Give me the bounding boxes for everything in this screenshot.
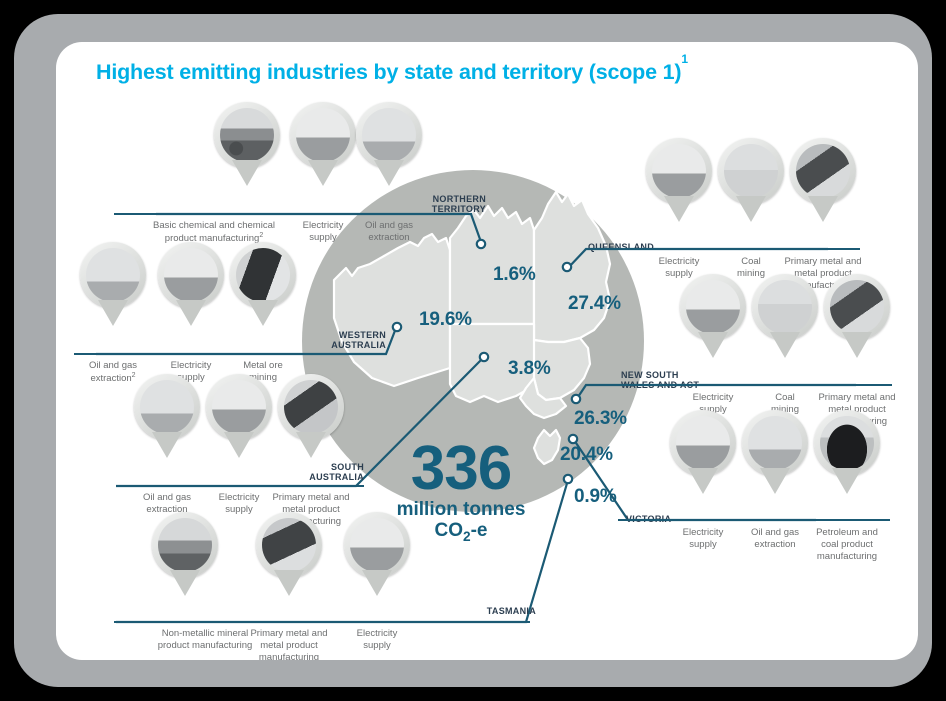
power-pylon-photo	[680, 274, 746, 340]
power-pylon-photo	[670, 410, 736, 476]
coal-pile-photo	[752, 274, 818, 340]
pin-western-australia-0[interactable]	[80, 242, 146, 308]
percent-queensland: 27.4%	[568, 293, 621, 315]
pin-new-south-wales-and-act-2[interactable]	[824, 274, 890, 340]
metal-works-photo	[824, 274, 890, 340]
rule-victoria	[618, 519, 890, 521]
pin-northern-territory-0[interactable]	[214, 102, 280, 168]
state-label-northern-territory: NORTHERNTERRITORY	[376, 194, 486, 215]
state-label-south-australia: SOUTHAUSTRALIA	[264, 462, 364, 483]
oil-pumpjack-photo	[80, 242, 146, 308]
pin-tasmania-2[interactable]	[344, 512, 410, 578]
pin-queensland-2[interactable]	[790, 138, 856, 204]
total-emissions-value: 336	[366, 440, 556, 497]
metal-ore-photo	[230, 242, 296, 308]
power-pylon-photo	[344, 512, 410, 578]
pin-victoria-0[interactable]	[670, 410, 736, 476]
pin-tail	[688, 468, 718, 494]
pin-tail	[808, 196, 838, 222]
pin-tail	[760, 468, 790, 494]
pin-tail	[274, 570, 304, 596]
pin-northern-territory-1[interactable]	[290, 102, 356, 168]
state-label-western-australia: WESTERNAUSTRALIA	[286, 330, 386, 351]
pin-tasmania-0[interactable]	[152, 512, 218, 578]
caption-tasmania-2: Electricitysupply	[312, 628, 442, 652]
pin-western-australia-2[interactable]	[230, 242, 296, 308]
rule-new-south-wales-and-act	[616, 384, 892, 386]
state-label-new-south-wales-and-act: NEW SOUTHWALES AND ACT	[621, 370, 699, 391]
pin-tail	[176, 300, 206, 326]
pin-queensland-0[interactable]	[646, 138, 712, 204]
oil-pumpjack-photo	[356, 102, 422, 168]
pin-tail	[698, 332, 728, 358]
percent-victoria: 20.4%	[560, 444, 613, 466]
oil-pumpjack-photo	[742, 410, 808, 476]
infographic-card: Highest emitting industries by state and…	[56, 42, 918, 660]
rule-south-australia	[116, 485, 364, 487]
pin-tail	[308, 160, 338, 186]
percent-western-australia: 19.6%	[419, 309, 472, 331]
pin-tail	[98, 300, 128, 326]
pin-queensland-1[interactable]	[718, 138, 784, 204]
pin-tail	[296, 432, 326, 458]
rule-northern-territory	[114, 213, 472, 215]
chemical-plant-photo	[214, 102, 280, 168]
state-label-tasmania: TASMANIA	[436, 606, 536, 616]
metal-works-photo	[278, 374, 344, 440]
coal-pile-photo	[814, 410, 880, 476]
pin-tasmania-1[interactable]	[256, 512, 322, 578]
caption-northern-territory-2: Oil and gasextraction	[324, 220, 454, 244]
pin-tail	[152, 432, 182, 458]
chemical-plant-photo	[152, 512, 218, 578]
pin-tail	[770, 332, 800, 358]
metal-works-photo	[790, 138, 856, 204]
rule-tasmania	[114, 621, 530, 623]
pin-tail	[224, 432, 254, 458]
power-pylon-photo	[158, 242, 224, 308]
rule-queensland	[586, 248, 860, 250]
pin-south-australia-2[interactable]	[278, 374, 344, 440]
power-pylon-photo	[646, 138, 712, 204]
pin-south-australia-1[interactable]	[206, 374, 272, 440]
pin-victoria-2[interactable]	[814, 410, 880, 476]
pin-tail	[842, 332, 872, 358]
metal-works-photo	[256, 512, 322, 578]
pin-tail	[664, 196, 694, 222]
map-region-queensland	[534, 192, 610, 342]
pin-tail	[170, 570, 200, 596]
percent-new-south-wales-and-act: 26.3%	[574, 408, 627, 430]
pin-northern-territory-2[interactable]	[356, 102, 422, 168]
pin-new-south-wales-and-act-1[interactable]	[752, 274, 818, 340]
outer-frame: Highest emitting industries by state and…	[14, 14, 932, 687]
pin-new-south-wales-and-act-0[interactable]	[680, 274, 746, 340]
pin-tail	[362, 570, 392, 596]
pin-western-australia-1[interactable]	[158, 242, 224, 308]
pin-tail	[832, 468, 862, 494]
coal-pile-photo	[718, 138, 784, 204]
oil-pumpjack-photo	[134, 374, 200, 440]
rule-western-australia	[74, 353, 386, 355]
percent-south-australia: 3.8%	[508, 358, 551, 380]
power-pylon-photo	[206, 374, 272, 440]
percent-tasmania: 0.9%	[574, 486, 617, 508]
pin-tail	[374, 160, 404, 186]
pin-tail	[736, 196, 766, 222]
caption-victoria-2: Petroleum andcoal productmanufacturing	[782, 527, 912, 563]
pin-tail	[232, 160, 262, 186]
pin-tail	[248, 300, 278, 326]
percent-northern-territory: 1.6%	[493, 264, 536, 286]
pin-south-australia-0[interactable]	[134, 374, 200, 440]
power-pylon-photo	[290, 102, 356, 168]
pin-victoria-1[interactable]	[742, 410, 808, 476]
